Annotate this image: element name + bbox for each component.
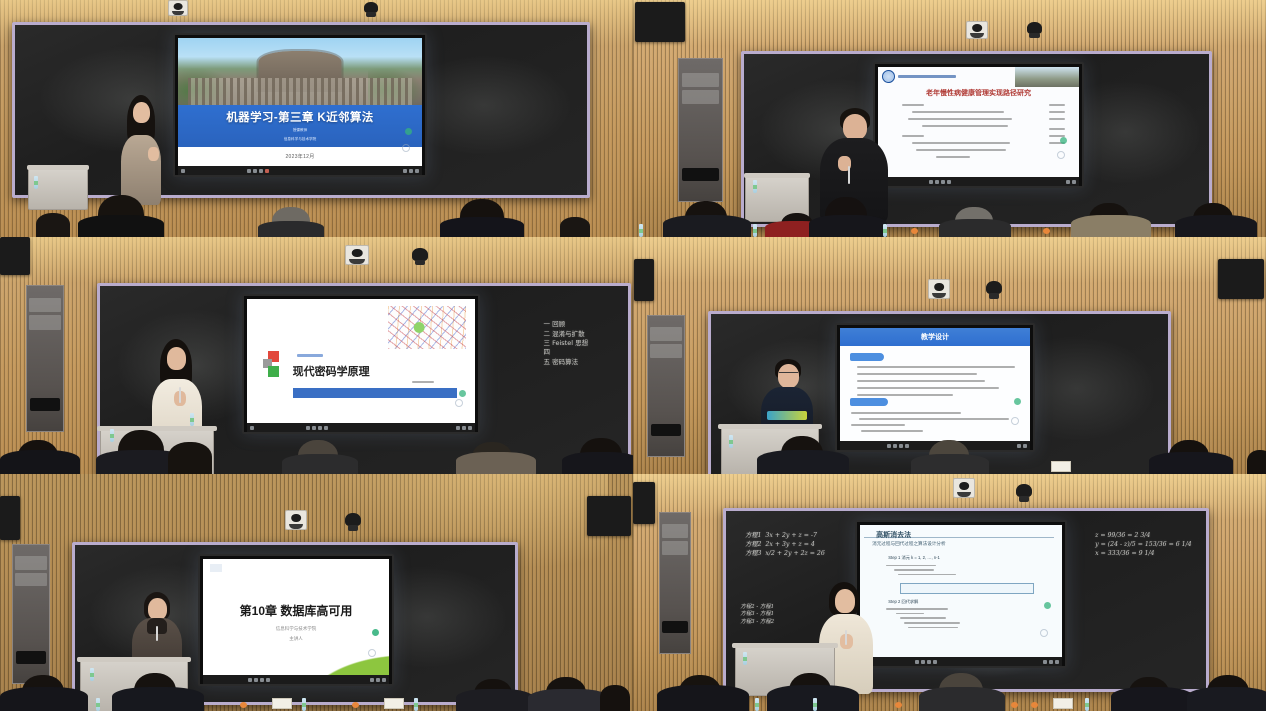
ptz-camera-icon — [411, 248, 429, 265]
document-camera-icon — [966, 21, 988, 39]
slide-gaussian-elimination: 高斯消去法 消元过程与回代过程之算法设计分析 Step 1 消元 k = 1, … — [860, 525, 1062, 657]
slide-footer: 2023年12月 — [178, 147, 422, 166]
water-bottle — [753, 224, 757, 237]
mindmap-image — [388, 306, 466, 348]
university-crest-icon — [882, 70, 895, 83]
panel-gaussian-elimination[interactable]: 方程1 3x + 2y + z = -7 方程2 2x + 3y + z = 4… — [633, 474, 1266, 711]
board-side-panel[interactable] — [26, 285, 64, 432]
slide-title: 高斯消去法 — [876, 530, 911, 540]
ptz-camera-icon — [363, 2, 379, 17]
slide-body-1 — [857, 366, 1022, 396]
taskbar-icon[interactable] — [253, 169, 257, 173]
power-indicator-icon — [1040, 629, 1048, 637]
document-camera-icon — [285, 510, 307, 530]
orange-fruit — [895, 702, 902, 708]
interactive-display[interactable]: 机器学习-第三章 K近邻算法 授课教师 信息科学与技术学院 2023年12月 — [173, 33, 427, 177]
taskbar-tray-icon[interactable] — [415, 169, 419, 173]
taskbar-icon[interactable] — [247, 169, 251, 173]
status-dot — [405, 128, 412, 135]
taskbar-icon[interactable] — [259, 169, 263, 173]
status-dot — [459, 390, 466, 397]
campus-photo — [178, 38, 422, 105]
orange-fruit — [911, 228, 918, 234]
slide-title: 现代密码学原理 — [293, 363, 370, 379]
audience-row — [0, 655, 633, 711]
blackboard-chalk-text: 一 回顾 二 混淆与扩散 三 Feistel 思想 四 五 密码算法 — [544, 320, 589, 367]
display-stand — [265, 175, 335, 177]
slide-corner-mark — [210, 564, 222, 572]
slide-title: 教学设计 — [921, 332, 949, 342]
slide-cryptography: 现代密码学原理 — [247, 299, 475, 423]
ptz-camera-icon — [1026, 22, 1043, 38]
header-text-line — [898, 75, 956, 78]
water-bottle — [883, 224, 887, 237]
orange-fruit — [352, 702, 359, 708]
status-dot — [372, 629, 379, 636]
document-camera-icon — [345, 245, 369, 265]
document-camera-icon — [928, 279, 950, 299]
audience-row — [0, 187, 633, 237]
name-plate — [1051, 461, 1071, 472]
screen-taskbar[interactable] — [178, 166, 422, 175]
slide-eyebrow-line — [297, 354, 323, 357]
slide-subtitle-1: 授课教师 — [293, 128, 307, 133]
taskbar-tray-icon[interactable] — [403, 169, 407, 173]
ptz-camera-icon — [1015, 484, 1033, 502]
wall-speaker — [1218, 259, 1264, 299]
orange-fruit — [1011, 702, 1018, 708]
wall-speaker — [0, 496, 20, 540]
audience-row — [633, 179, 1266, 237]
slide-underbar — [293, 388, 457, 398]
audience-row — [633, 651, 1266, 711]
slide-body — [902, 104, 1067, 158]
accent-block-green — [268, 366, 279, 377]
slide-health-management: 老年慢性病健康管理实现路径研究 — [878, 67, 1079, 177]
name-plate — [1053, 698, 1073, 709]
status-dot — [1044, 602, 1051, 609]
wall-speaker — [587, 496, 631, 536]
section-label-1 — [850, 353, 884, 361]
slide-step-1: Step 1 消元 k = 1, 2, …, n-1 — [888, 555, 940, 561]
microphone — [179, 387, 181, 403]
name-plate — [272, 698, 292, 709]
panel-machine-learning[interactable]: 机器学习-第三章 K近邻算法 授课教师 信息科学与技术学院 2023年12月 — [0, 0, 633, 237]
slide-subtitle: 消元过程与回代过程之算法设计分析 — [872, 541, 946, 547]
taskbar-icon[interactable] — [181, 169, 185, 173]
microphone — [156, 626, 158, 641]
interactive-display[interactable]: 现代密码学原理 — [242, 294, 480, 434]
slide-formula-box — [900, 583, 1033, 594]
slide-machine-learning: 机器学习-第三章 K近邻算法 授课教师 信息科学与技术学院 2023年12月 — [178, 38, 422, 166]
water-bottle — [813, 698, 817, 711]
panel-health-management[interactable]: 老年慢性病健康管理实现路径研究 — [633, 0, 1266, 237]
eyeglasses-icon — [779, 372, 798, 377]
audience-row — [0, 414, 633, 474]
panel-cryptography[interactable]: 一 回顾 二 混淆与扩散 三 Feistel 思想 四 五 密码算法 现代密码学… — [0, 237, 633, 474]
taskbar-tray-icon[interactable] — [409, 169, 413, 173]
slide-title: 第10章 数据库高可用 — [203, 602, 389, 619]
taskbar-icon[interactable] — [265, 169, 269, 173]
water-bottle — [639, 224, 643, 237]
blackboard-working-notes: 方程2 - 方程1 方程3 - 方程1 方程3 - 方程2 — [740, 604, 774, 627]
power-indicator-icon — [402, 144, 410, 152]
wall-speaker — [0, 237, 30, 275]
document-camera-icon — [168, 0, 188, 16]
blackboard-equations-right: z = 99/36 = 2 3/4 y = (24 - z)/5 = 153/3… — [1095, 532, 1192, 559]
slide-title: 机器学习-第三章 K近邻算法 — [226, 109, 373, 125]
power-indicator-icon — [1057, 151, 1065, 159]
wall-speaker — [634, 259, 654, 301]
board-side-panel[interactable] — [659, 512, 691, 654]
slide-subtitle-2: 信息科学与技术学院 — [284, 137, 316, 142]
wall-speaker — [635, 2, 685, 42]
status-dot — [1014, 398, 1021, 405]
power-indicator-icon — [455, 399, 463, 407]
slide-header-band: 教学设计 — [840, 328, 1030, 346]
blackboard-equations-left: 方程1 3x + 2y + z = -7 方程2 2x + 3y + z = 4… — [745, 532, 825, 559]
water-bottle — [755, 698, 759, 711]
jacket-stripe — [767, 411, 807, 420]
water-bottle — [302, 698, 306, 711]
name-plate — [384, 698, 404, 709]
ptz-camera-icon — [985, 281, 1003, 299]
interactive-display[interactable]: 高斯消去法 消元过程与回代过程之算法设计分析 Step 1 消元 k = 1, … — [855, 520, 1067, 668]
orange-fruit — [1043, 228, 1050, 234]
wall-speaker — [633, 482, 655, 524]
slide-body-1 — [886, 565, 1046, 579]
panel-database-ha[interactable]: 第10章 数据库高可用 信息科学与技术学院 主讲人 — [0, 474, 633, 711]
ptz-camera-icon — [344, 513, 362, 531]
interactive-display[interactable]: 老年慢性病健康管理实现路径研究 — [873, 62, 1084, 188]
slide-date: 2023年12月 — [285, 153, 314, 160]
orange-fruit — [240, 702, 247, 708]
slide-subtitle-line — [412, 381, 434, 383]
slide-step-2: Step 2 回代求解 — [888, 599, 918, 605]
audience-row — [633, 422, 1266, 474]
slide-title: 老年慢性病健康管理实现路径研究 — [890, 88, 1067, 98]
orange-fruit — [1031, 702, 1038, 708]
section-label-2 — [850, 398, 888, 406]
water-bottle — [414, 698, 418, 711]
campus-banner-photo — [1015, 67, 1079, 87]
slide-body-2 — [886, 608, 1046, 628]
document-camera-icon — [953, 478, 975, 498]
microphone — [845, 630, 847, 645]
water-bottle — [1085, 698, 1089, 711]
slide-title-band: 机器学习-第三章 K近邻算法 授课教师 信息科学与技术学院 — [178, 105, 422, 147]
panel-teaching-design[interactable]: 教学设计 — [633, 237, 1266, 474]
water-bottle — [96, 698, 100, 711]
photo-grid: 机器学习-第三章 K近邻算法 授课教师 信息科学与技术学院 2023年12月 — [0, 0, 1266, 711]
